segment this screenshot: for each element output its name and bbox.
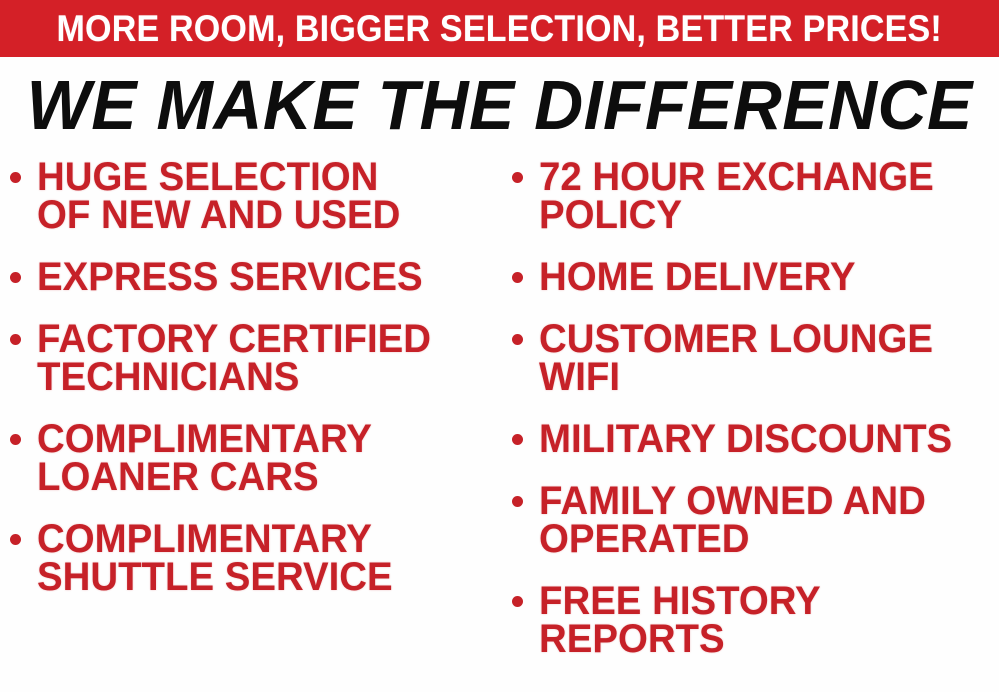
banner-headline-text: MORE ROOM, BIGGER SELECTION, BETTER PRIC… <box>57 10 942 47</box>
bullet-dot-icon <box>10 334 21 345</box>
bullet-dot-icon <box>512 172 523 183</box>
list-item: EXPRESS SERVICES <box>10 258 505 296</box>
list-item: FREE HISTORY REPORTS <box>512 582 999 658</box>
bullet-dot-icon <box>512 334 523 345</box>
list-item: COMPLIMENTARY SHUTTLE SERVICE <box>10 520 505 596</box>
list-item: FAMILY OWNED AND OPERATED <box>512 482 999 558</box>
benefits-columns: HUGE SELECTION OF NEW AND USED EXPRESS S… <box>0 158 999 692</box>
list-item: MILITARY DISCOUNTS <box>512 420 999 458</box>
list-item: FACTORY CERTIFIED TECHNICIANS <box>10 320 505 396</box>
bullet-dot-icon <box>512 434 523 445</box>
list-item-label: HUGE SELECTION OF NEW AND USED <box>37 158 486 234</box>
top-banner: MORE ROOM, BIGGER SELECTION, BETTER PRIC… <box>0 0 999 57</box>
bullet-dot-icon <box>512 596 523 607</box>
list-item-label: MILITARY DISCOUNTS <box>539 420 981 458</box>
bullet-dot-icon <box>10 172 21 183</box>
list-item: 72 HOUR EXCHANGE POLICY <box>512 158 999 234</box>
promo-poster: MORE ROOM, BIGGER SELECTION, BETTER PRIC… <box>0 0 999 692</box>
benefits-column-left: HUGE SELECTION OF NEW AND USED EXPRESS S… <box>10 158 505 620</box>
bullet-dot-icon <box>512 272 523 283</box>
list-item: HOME DELIVERY <box>512 258 999 296</box>
headline-container: WE MAKE THE DIFFERENCE <box>0 66 999 144</box>
list-item-label: FACTORY CERTIFIED TECHNICIANS <box>37 320 486 396</box>
list-item: CUSTOMER LOUNGE WIFI <box>512 320 999 396</box>
list-item-label: COMPLIMENTARY LOANER CARS <box>37 420 486 496</box>
bullet-dot-icon <box>512 496 523 507</box>
list-item-label: COMPLIMENTARY SHUTTLE SERVICE <box>37 520 486 596</box>
page-title: WE MAKE THE DIFFERENCE <box>26 70 972 140</box>
benefits-column-right: 72 HOUR EXCHANGE POLICY HOME DELIVERY CU… <box>512 158 999 682</box>
list-item-label: HOME DELIVERY <box>539 258 981 296</box>
list-item: COMPLIMENTARY LOANER CARS <box>10 420 505 496</box>
bullet-dot-icon <box>10 434 21 445</box>
bullet-dot-icon <box>10 272 21 283</box>
list-item-label: EXPRESS SERVICES <box>37 258 486 296</box>
list-item-label: FREE HISTORY REPORTS <box>539 582 981 658</box>
list-item-label: 72 HOUR EXCHANGE POLICY <box>539 158 981 234</box>
bullet-dot-icon <box>10 534 21 545</box>
list-item-label: FAMILY OWNED AND OPERATED <box>539 482 981 558</box>
list-item-label: CUSTOMER LOUNGE WIFI <box>539 320 981 396</box>
list-item: HUGE SELECTION OF NEW AND USED <box>10 158 505 234</box>
